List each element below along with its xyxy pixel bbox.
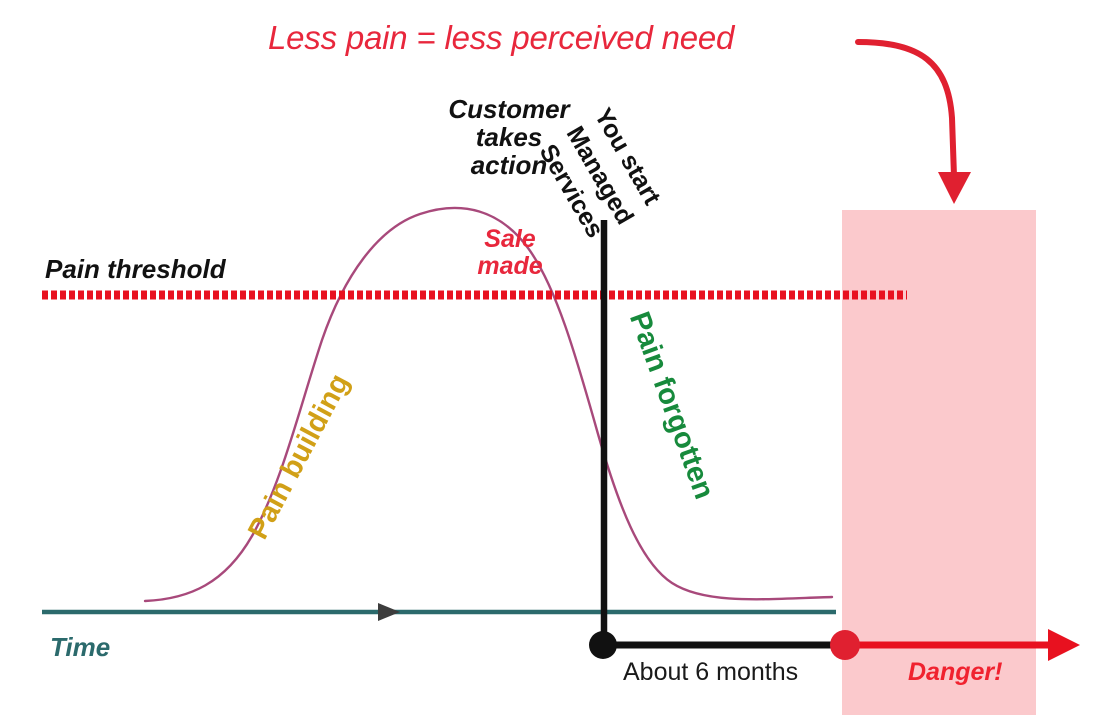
danger-timeline-arrowhead: [1048, 629, 1080, 661]
time-axis-label: Time: [50, 633, 110, 661]
danger-label: Danger!: [908, 659, 1002, 686]
sale-made-label: Sale made: [455, 226, 565, 280]
danger-zone-region: [842, 210, 1036, 715]
pain-curve-diagram: Less pain = less perceived need Pain thr…: [0, 0, 1100, 715]
duration-label: About 6 months: [623, 659, 798, 686]
headline-curved-arrow: [858, 42, 954, 176]
pain-threshold-label: Pain threshold: [45, 255, 226, 283]
timeline-start-dot: [589, 631, 617, 659]
danger-start-dot: [830, 630, 860, 660]
headline-arrowhead: [938, 172, 971, 204]
headline-text: Less pain = less perceived need: [268, 20, 734, 56]
